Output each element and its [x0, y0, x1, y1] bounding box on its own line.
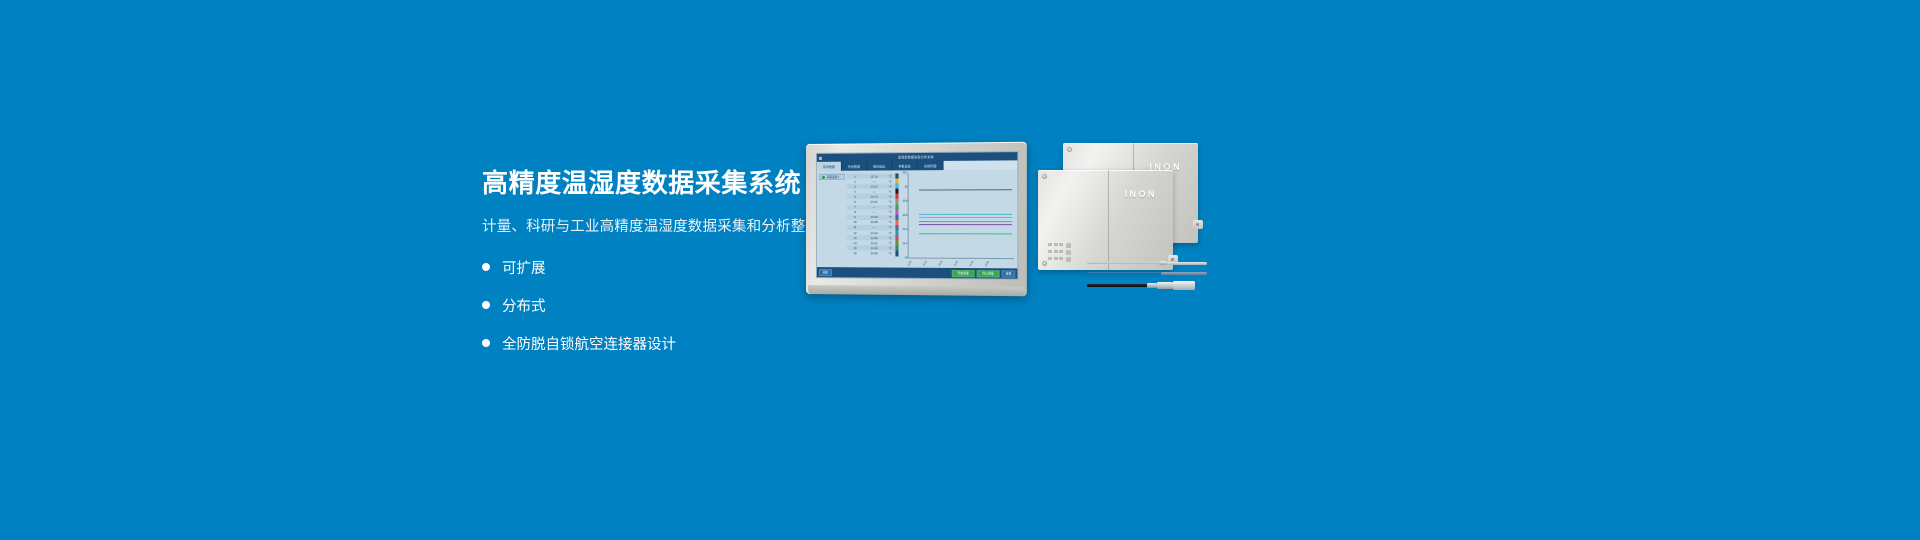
cell-channel: 12	[847, 231, 863, 235]
cell-value: 24.61	[863, 200, 885, 204]
cell-channel: 8	[847, 210, 863, 214]
cell-channel: 9	[847, 215, 863, 219]
tab-report[interactable]: 报表输出	[867, 161, 892, 170]
cell-value: 24.90	[863, 251, 885, 255]
cell-unit: ℃	[885, 231, 895, 235]
channel-table: 125.18℃2----℃324.97℃4----℃524.72℃624.61℃…	[847, 170, 900, 267]
temperature-probe	[1087, 261, 1207, 265]
chart-y-tick: 24.8	[899, 200, 907, 203]
table-row[interactable]: 125.18℃	[847, 173, 900, 178]
bullet-dot-icon	[482, 263, 490, 271]
bullet-dot-icon	[482, 339, 490, 347]
table-row[interactable]: 1424.11℃	[847, 240, 900, 245]
list-item: 全防脱自锁航空连接器设计	[482, 330, 902, 356]
cell-channel: 11	[847, 226, 863, 230]
panel-pc-device: 温湿度数据采集分析系统 实时数据 历史数据 报表输出 参数设置 系统管理 采集设…	[806, 142, 1027, 297]
chart-series-line	[919, 233, 1012, 234]
cell-unit: ℃	[885, 189, 895, 193]
cell-unit: ℃	[885, 246, 895, 250]
cell-value: ----	[863, 179, 885, 183]
table-row[interactable]: 1524.90℃	[847, 245, 900, 250]
cell-value: 24.88	[863, 220, 885, 224]
cell-channel: 7	[847, 205, 863, 209]
table-row[interactable]: 324.97℃	[847, 184, 900, 189]
table-row[interactable]: 1224.94℃	[847, 230, 900, 235]
cell-value: 24.94	[863, 231, 885, 235]
cell-value: 24.86	[863, 236, 885, 240]
port-column-icon	[1066, 243, 1071, 262]
brand-logo: INON	[1125, 189, 1158, 199]
sidebar-item-label: 采集设备 1	[827, 175, 840, 179]
window-min-icon[interactable]	[819, 156, 822, 159]
table-row[interactable]: 7----℃	[847, 204, 900, 209]
app-titlebar: 温湿度数据采集分析系统	[817, 152, 1017, 162]
screw-icon	[1042, 174, 1047, 179]
cell-value: ----	[863, 205, 885, 209]
screw-icon	[1042, 261, 1047, 266]
start-acquisition-button[interactable]: 开始采集	[952, 269, 975, 276]
stop-acquisition-button[interactable]: 停止采集	[977, 270, 1000, 277]
connector-collar	[1147, 283, 1157, 288]
cell-unit: ℃	[885, 251, 895, 255]
chart-x-tick: 10:30	[954, 261, 959, 267]
cell-value: ----	[863, 210, 885, 214]
cell-channel: 4	[847, 190, 863, 194]
probe-cable	[1087, 262, 1159, 264]
cell-value: 25.18	[863, 174, 885, 178]
exit-button[interactable]: 退出	[819, 269, 832, 276]
acquisition-module-front: INON	[1038, 170, 1173, 270]
chart-x-tick: 10:00	[908, 261, 913, 267]
cell-channel: 1	[847, 174, 863, 178]
cell-channel: 13	[847, 236, 863, 240]
chart-x-tick: 10:20	[939, 261, 944, 267]
cell-value: 24.11	[863, 241, 885, 245]
cell-channel: 10	[847, 220, 863, 224]
cell-unit: ℃	[885, 179, 895, 183]
status-dot-icon	[822, 175, 825, 178]
cell-unit: ℃	[885, 215, 895, 219]
chart-series-line	[919, 214, 1012, 215]
aviation-connector-probe	[1087, 281, 1195, 290]
sidebar-item-device[interactable]: 采集设备 1	[819, 174, 845, 180]
cell-channel: 15	[847, 246, 863, 250]
connector-shell	[1157, 282, 1173, 289]
probe-tube	[1161, 272, 1207, 275]
bottombar-spacer	[834, 272, 950, 273]
chart-y-tick: 24	[899, 256, 907, 259]
cell-unit: ℃	[885, 236, 895, 240]
tab-history[interactable]: 历史数据	[842, 162, 867, 171]
chart-y-tick: 24.2	[899, 242, 907, 245]
cell-channel: 16	[847, 251, 863, 255]
cell-channel: 6	[847, 200, 863, 204]
feature-label: 可扩展	[502, 257, 546, 278]
trend-chart: 25.22524.824.624.424.22410:0010:1010:201…	[899, 170, 1017, 269]
cell-channel: 2	[847, 179, 863, 183]
software-screen: 温湿度数据采集分析系统 实时数据 历史数据 报表输出 参数设置 系统管理 采集设…	[816, 151, 1018, 280]
table-row[interactable]: 1024.88℃	[847, 220, 900, 225]
table-row[interactable]: 1624.90℃	[847, 251, 900, 256]
app-body: 采集设备 1 125.18℃2----℃324.97℃4----℃524.72℃…	[817, 170, 1017, 269]
table-row[interactable]: 624.61℃	[847, 199, 900, 204]
tab-system[interactable]: 系统管理	[918, 161, 944, 170]
connector-ports	[1048, 243, 1071, 262]
device-sidebar: 采集设备 1	[817, 171, 847, 268]
mount-ear	[1193, 220, 1203, 229]
chart-x-tick: 10:40	[970, 261, 975, 267]
table-row[interactable]: 11----℃	[847, 225, 900, 230]
cell-channel: 3	[847, 184, 863, 188]
chart-series-line	[919, 225, 1012, 226]
chart-plot-area	[908, 173, 1015, 259]
banner-root: 高精度温湿度数据采集系统 计量、科研与工业高精度温湿度数据采集和分析整体解决方案…	[0, 0, 1920, 540]
humidity-probe	[1087, 272, 1207, 275]
ear-hole-icon	[1196, 223, 1199, 226]
table-row[interactable]: 924.90℃	[847, 215, 900, 220]
chart-series-line	[919, 189, 1012, 190]
cell-channel: 14	[847, 241, 863, 245]
probe-ferrule	[1159, 261, 1167, 265]
cell-value: 24.90	[863, 246, 885, 250]
chart-x-tick: 10:50	[985, 261, 990, 267]
tab-realtime[interactable]: 实时数据	[817, 162, 842, 171]
chart-series-line	[919, 217, 1012, 218]
table-row[interactable]: 524.72℃	[847, 194, 900, 199]
cell-unit: ℃	[885, 205, 895, 209]
feature-label: 分布式	[502, 295, 546, 316]
cell-unit: ℃	[885, 195, 895, 199]
cell-value: ----	[863, 190, 885, 194]
screw-icon	[1067, 147, 1072, 152]
cell-value: ----	[863, 226, 885, 230]
chart-x-tick: 10:10	[923, 261, 928, 267]
cell-unit: ℃	[885, 200, 895, 204]
cell-value: 24.97	[863, 184, 885, 188]
table-row[interactable]: 8----℃	[847, 210, 900, 215]
probe-cable	[1087, 284, 1147, 287]
channel-color-swatch	[895, 251, 898, 256]
feature-label: 全防脱自锁航空连接器设计	[502, 333, 676, 354]
probe-tube	[1167, 262, 1207, 265]
tabbar-filler	[944, 160, 1018, 170]
chart-y-tick: 24.6	[899, 214, 907, 217]
cell-value: 24.90	[863, 215, 885, 219]
bullet-dot-icon	[482, 301, 490, 309]
chart-y-tick: 25	[899, 186, 907, 189]
cell-unit: ℃	[885, 241, 895, 245]
terminal-grid-icon	[1048, 243, 1063, 262]
table-row[interactable]: 4----℃	[847, 189, 900, 194]
table-row[interactable]: 1324.86℃	[847, 235, 900, 240]
cell-unit: ℃	[885, 184, 895, 188]
connector-body	[1173, 281, 1195, 290]
list-item: 分布式	[482, 292, 902, 318]
probe-cable	[1087, 272, 1161, 274]
cell-unit: ℃	[885, 220, 895, 224]
cell-channel: 5	[847, 195, 863, 199]
cell-value: 24.72	[863, 195, 885, 199]
chart-y-tick: 25.2	[899, 171, 907, 174]
cell-unit: ℃	[885, 210, 895, 214]
cell-unit: ℃	[885, 226, 895, 230]
settings-button[interactable]: 设置	[1002, 270, 1016, 277]
chart-series-line	[919, 221, 1012, 222]
app-window-title: 温湿度数据采集分析系统	[898, 155, 934, 159]
tab-settings[interactable]: 参数设置	[892, 161, 917, 170]
table-row[interactable]: 2----℃	[847, 179, 900, 184]
app-bottom-bar: 退出 开始采集 停止采集 设置	[817, 267, 1017, 279]
chart-y-tick: 24.4	[899, 228, 907, 231]
module-seam	[1108, 170, 1109, 270]
cell-unit: ℃	[885, 174, 895, 178]
